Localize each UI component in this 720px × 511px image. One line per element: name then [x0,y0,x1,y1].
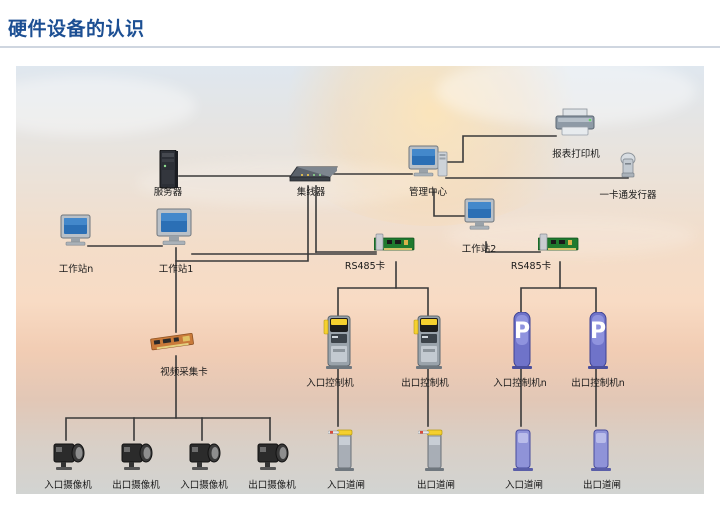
node-exit-ctrl [412,314,446,375]
node-entry-ctrl [322,314,356,375]
node-video-capture [150,330,196,357]
label-entry-ctrl: 入口控制机 [306,375,354,389]
label-exit-cam-1: 出口摄像机 [112,477,160,491]
node-workstation-n [60,214,92,253]
label-report-printer: 报表打印机 [552,146,600,160]
label-entry-gate: 入口道闸 [327,477,365,491]
node-workstation2 [464,198,496,237]
node-entry-gate-n [508,424,538,477]
label-card-issuer: 一卡通发行器 [599,187,656,201]
node-entry-cam-1 [48,438,88,477]
label-video-capture: 视频采集卡 [160,364,208,378]
title-divider [0,46,720,48]
topology-diagram: 服务器 集线器 管理中心 [16,66,704,494]
svg-text:P: P [514,319,530,344]
node-entry-gate [328,424,362,477]
node-card-issuer [618,152,638,185]
node-report-printer [554,108,598,143]
label-entry-ctrl-n: 入口控制机n [493,375,547,389]
label-entry-gate-n: 入口道闸 [505,477,543,491]
label-rs485-card-1: RS485卡 [345,258,385,272]
node-rs485-card-1 [374,232,420,259]
label-server: 服务器 [154,184,183,198]
page-title: 硬件设备的认识 [8,14,145,41]
node-entry-ctrl-n: P [506,312,538,375]
label-entry-cam-2: 入口摄像机 [180,477,228,491]
label-exit-cam-2: 出口摄像机 [248,477,296,491]
node-entry-cam-2 [184,438,224,477]
label-exit-gate-n: 出口道闸 [583,477,621,491]
label-exit-gate: 出口道闸 [417,477,455,491]
label-workstation-n: 工作站n [59,261,94,275]
label-hub: 集线器 [297,184,326,198]
node-rs485-card-2 [538,232,584,259]
node-exit-cam-1 [116,438,156,477]
node-exit-gate-n [586,424,616,477]
node-exit-ctrl-n: P [582,312,614,375]
label-rs485-card-2: RS485卡 [511,258,551,272]
label-exit-ctrl: 出口控制机 [401,375,449,389]
svg-text:P: P [590,319,606,344]
node-workstation1 [156,208,194,253]
label-exit-ctrl-n: 出口控制机n [571,375,625,389]
label-entry-cam-1: 入口摄像机 [44,477,92,491]
label-mgmt-center: 管理中心 [409,184,447,198]
node-exit-gate [418,424,452,477]
label-workstation1: 工作站1 [159,261,194,275]
node-exit-cam-2 [252,438,292,477]
label-workstation2: 工作站2 [462,241,497,255]
